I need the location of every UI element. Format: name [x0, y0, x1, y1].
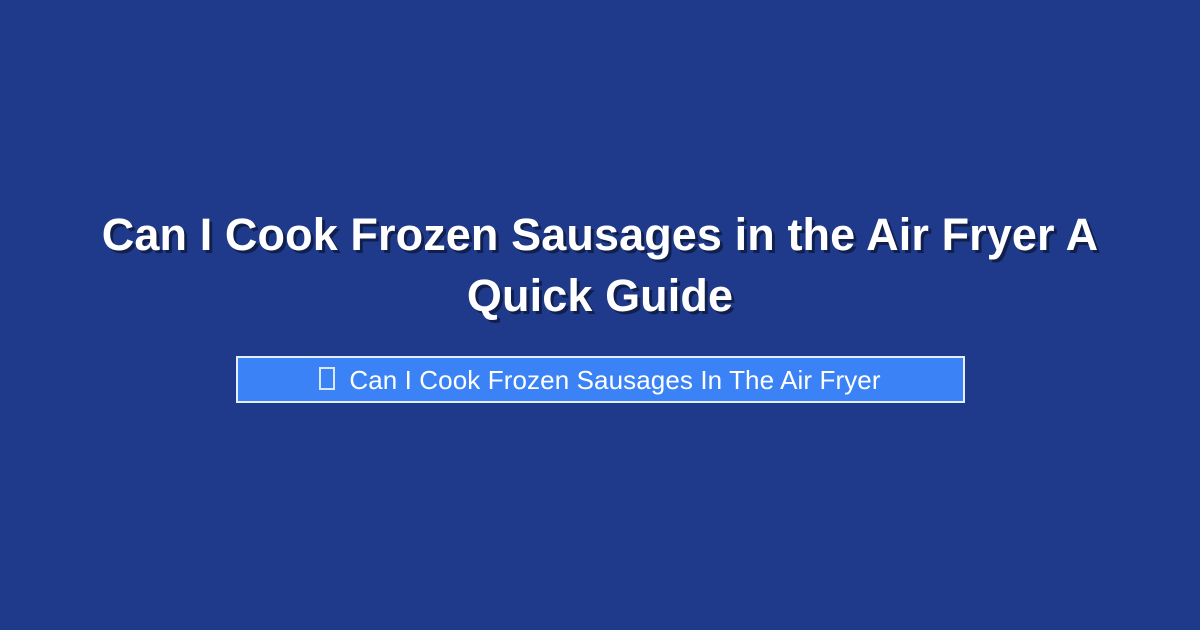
page-title: Can I Cook Frozen Sausages in the Air Fr… [85, 204, 1115, 326]
badge-row: Can I Cook Frozen Sausages In The Air Fr… [0, 356, 1200, 403]
topic-badge-label: Can I Cook Frozen Sausages In The Air Fr… [349, 367, 880, 393]
topic-badge-button[interactable]: Can I Cook Frozen Sausages In The Air Fr… [236, 356, 965, 403]
missing-glyph-box-icon [319, 367, 335, 390]
social-card: Can I Cook Frozen Sausages in the Air Fr… [0, 0, 1200, 630]
